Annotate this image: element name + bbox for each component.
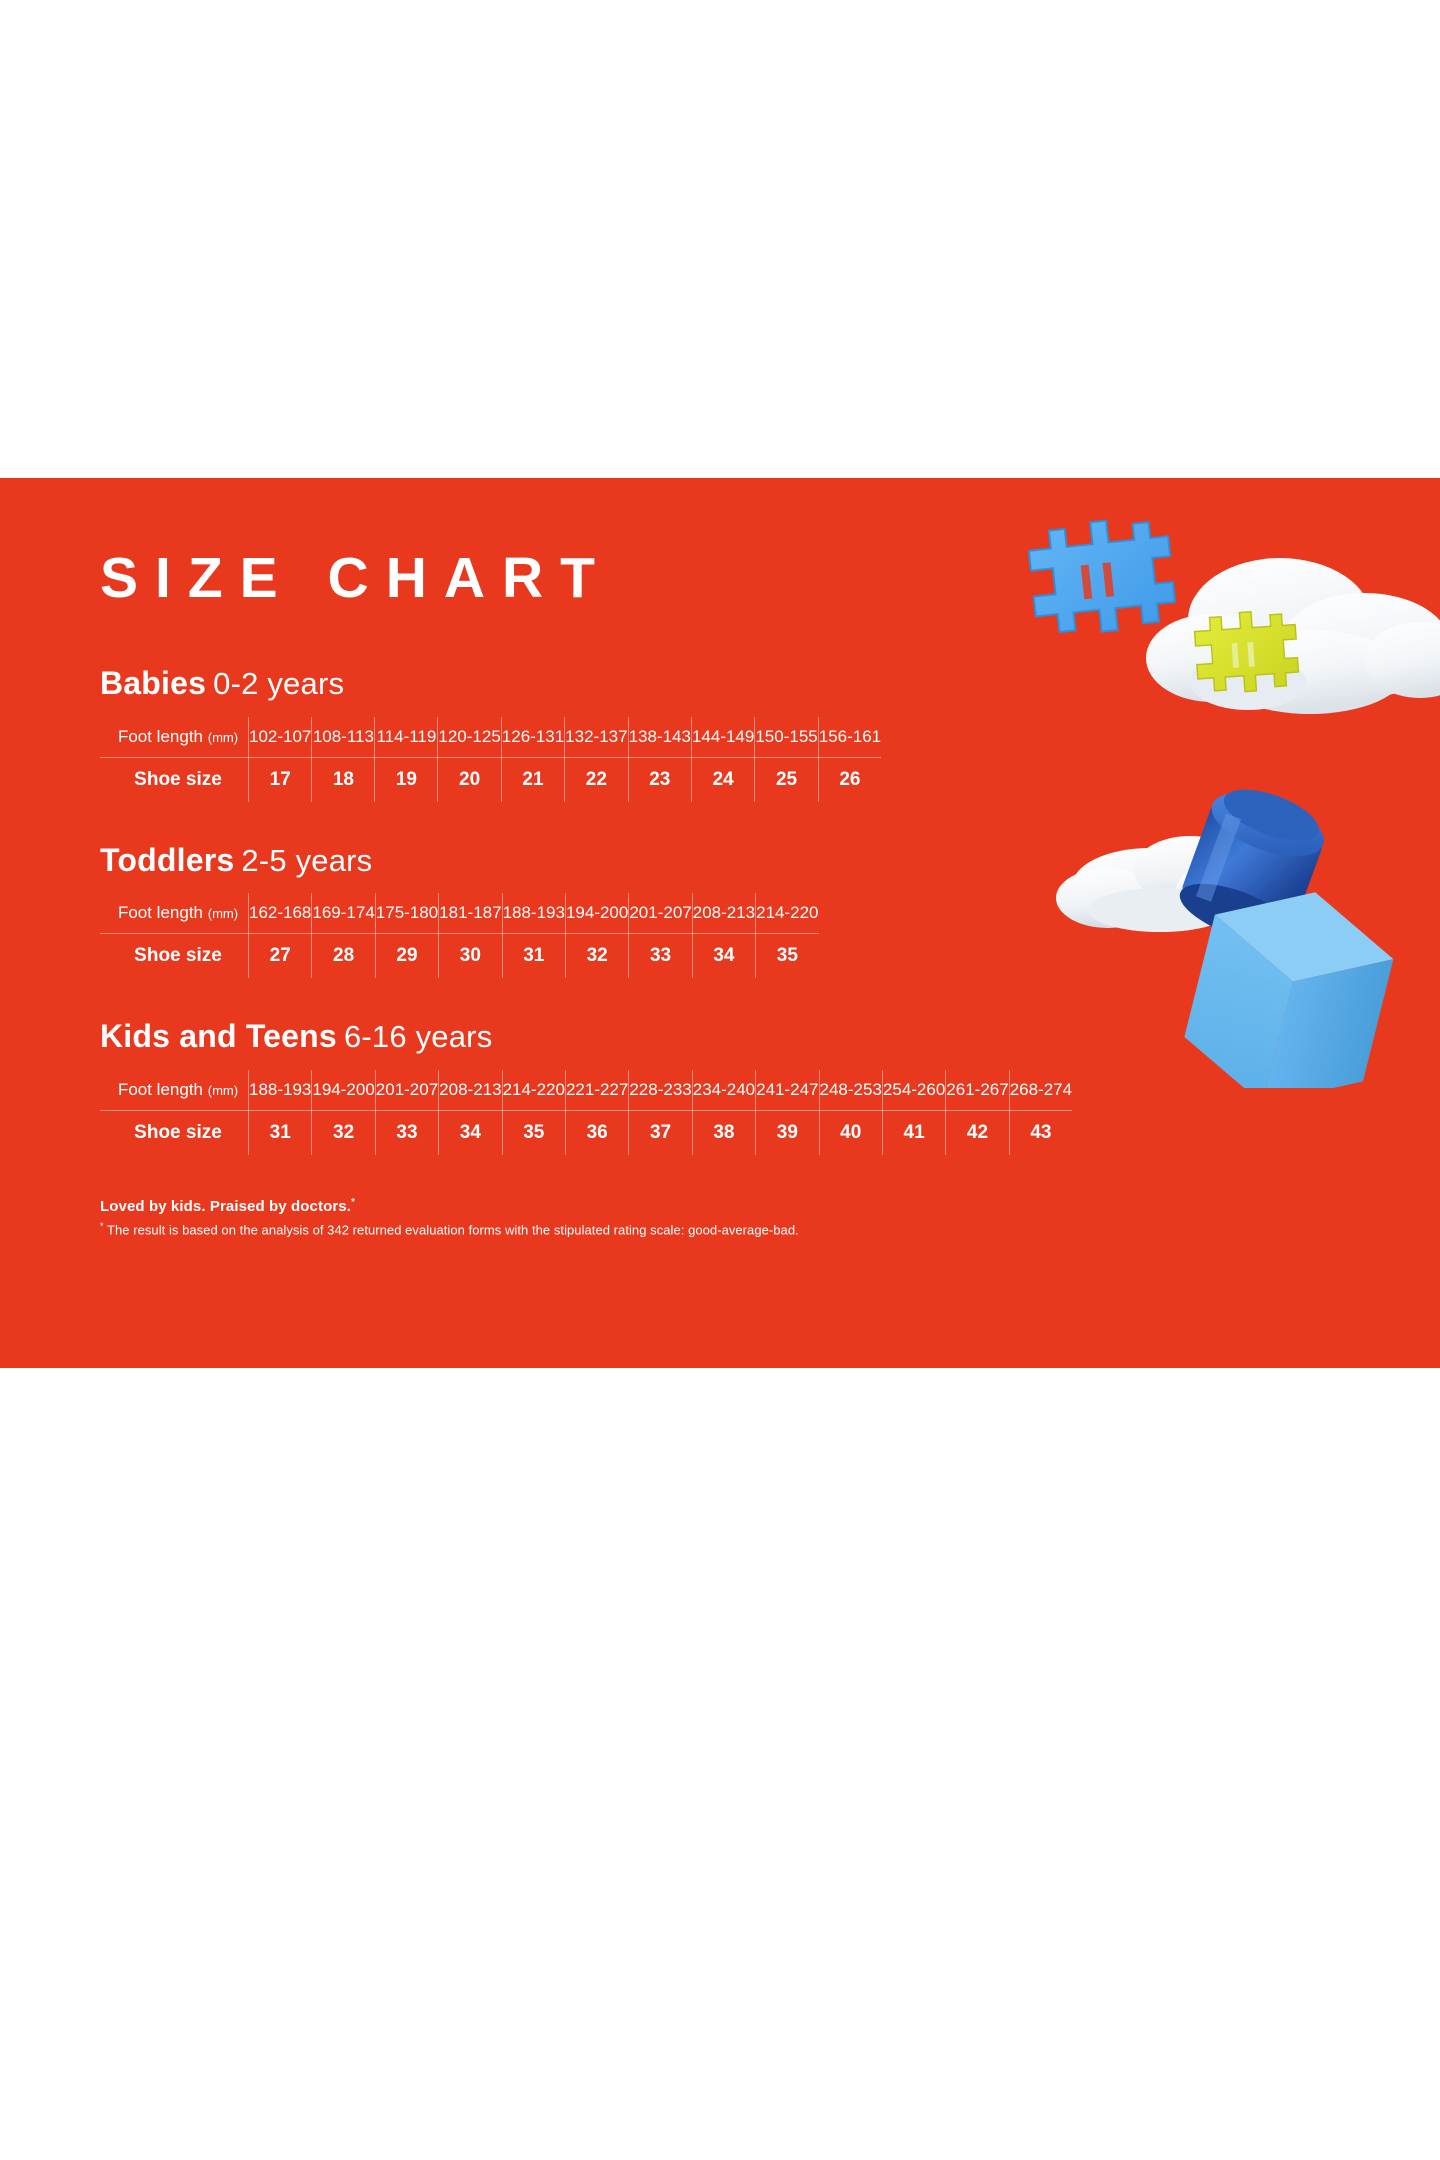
cell-foot-length: 150-155 (755, 717, 818, 758)
cell-foot-length: 201-207 (629, 893, 692, 934)
table-row-foot-length: Foot length (mm) 102-107 108-113 114-119… (100, 717, 881, 758)
cell-shoe-size: 23 (628, 757, 691, 802)
cell-shoe-size: 19 (375, 757, 438, 802)
cell-shoe-size: 31 (249, 1110, 312, 1155)
table-row-shoe-size: Shoe size 17 18 19 20 21 22 23 24 25 26 (100, 757, 881, 802)
section-heading-babies: Babies0-2 years (100, 667, 1440, 701)
cell-foot-length: 194-200 (312, 1070, 375, 1111)
table-row-foot-length: Foot length (mm) 188-193 194-200 201-207… (100, 1070, 1072, 1111)
cell-foot-length: 268-274 (1009, 1070, 1072, 1111)
row-label-foot-length: Foot length (mm) (100, 1070, 249, 1111)
foot-length-unit: (mm) (208, 906, 238, 921)
section-group-label: Toddlers (100, 842, 234, 878)
row-label-shoe-size: Shoe size (100, 1110, 249, 1155)
cell-foot-length: 208-213 (439, 1070, 502, 1111)
cell-foot-length: 234-240 (692, 1070, 755, 1111)
cell-foot-length: 126-131 (501, 717, 564, 758)
cell-foot-length: 162-168 (249, 893, 312, 934)
cell-foot-length: 261-267 (946, 1070, 1009, 1111)
cell-shoe-size: 20 (438, 757, 501, 802)
size-chart-panel: SIZE CHART Babies0-2 years Foot length (… (0, 478, 1440, 1368)
cell-shoe-size: 32 (565, 934, 628, 979)
row-label-shoe-size: Shoe size (100, 934, 249, 979)
cell-foot-length: 214-220 (502, 1070, 565, 1111)
cell-shoe-size: 29 (375, 934, 438, 979)
cell-foot-length: 156-161 (818, 717, 881, 758)
cell-foot-length: 120-125 (438, 717, 501, 758)
cell-shoe-size: 22 (565, 757, 628, 802)
foot-length-text: Foot length (118, 727, 203, 746)
section-heading-kids-and-teens: Kids and Teens6-16 years (100, 1020, 1440, 1054)
cell-shoe-size: 36 (565, 1110, 628, 1155)
cell-shoe-size: 33 (629, 934, 692, 979)
footer-tagline-marker: * (351, 1197, 355, 1208)
section-kids-and-teens: Kids and Teens6-16 years Foot length (mm… (100, 1020, 1440, 1155)
footer-footnote: * The result is based on the analysis of… (100, 1221, 1440, 1237)
cell-shoe-size: 24 (691, 757, 754, 802)
cell-foot-length: 138-143 (628, 717, 691, 758)
cell-shoe-size: 35 (502, 1110, 565, 1155)
foot-length-unit: (mm) (208, 730, 238, 745)
cell-shoe-size: 43 (1009, 1110, 1072, 1155)
cell-shoe-size: 17 (249, 757, 312, 802)
cell-foot-length: 194-200 (565, 893, 628, 934)
cell-shoe-size: 34 (439, 1110, 502, 1155)
cell-shoe-size: 31 (502, 934, 565, 979)
row-label-foot-length: Foot length (mm) (100, 893, 249, 934)
size-chart-page: SIZE CHART Babies0-2 years Foot length (… (0, 0, 1440, 2160)
section-age-label: 0-2 years (213, 666, 344, 701)
foot-length-unit: (mm) (208, 1083, 238, 1098)
cell-foot-length: 132-137 (565, 717, 628, 758)
cell-shoe-size: 30 (439, 934, 502, 979)
cell-foot-length: 208-213 (692, 893, 755, 934)
cell-shoe-size: 39 (756, 1110, 819, 1155)
section-babies: Babies0-2 years Foot length (mm) 102-107… (100, 667, 1440, 802)
cell-foot-length: 201-207 (375, 1070, 438, 1111)
row-label-foot-length: Foot length (mm) (100, 717, 249, 758)
cell-foot-length: 102-107 (249, 717, 312, 758)
cell-shoe-size: 25 (755, 757, 818, 802)
footer: Loved by kids. Praised by doctors.* * Th… (100, 1197, 1440, 1237)
cell-foot-length: 254-260 (882, 1070, 945, 1111)
cell-foot-length: 108-113 (312, 717, 375, 758)
cell-foot-length: 144-149 (691, 717, 754, 758)
table-row-foot-length: Foot length (mm) 162-168 169-174 175-180… (100, 893, 819, 934)
cell-shoe-size: 26 (818, 757, 881, 802)
section-age-label: 2-5 years (241, 843, 372, 878)
cell-foot-length: 241-247 (756, 1070, 819, 1111)
cell-foot-length: 248-253 (819, 1070, 882, 1111)
cell-shoe-size: 37 (629, 1110, 692, 1155)
cell-shoe-size: 21 (501, 757, 564, 802)
cell-foot-length: 221-227 (565, 1070, 628, 1111)
footer-tagline-text: Loved by kids. Praised by doctors. (100, 1198, 351, 1215)
cell-foot-length: 175-180 (375, 893, 438, 934)
size-table-babies: Foot length (mm) 102-107 108-113 114-119… (100, 717, 881, 802)
cell-shoe-size: 34 (692, 934, 755, 979)
cell-shoe-size: 40 (819, 1110, 882, 1155)
cell-shoe-size: 28 (312, 934, 375, 979)
row-label-shoe-size: Shoe size (100, 757, 249, 802)
footer-note-text: The result is based on the analysis of 3… (104, 1222, 799, 1237)
section-toddlers: Toddlers2-5 years Foot length (mm) 162-1… (100, 844, 1440, 979)
cell-foot-length: 214-220 (756, 893, 819, 934)
cell-foot-length: 181-187 (439, 893, 502, 934)
cell-shoe-size: 33 (375, 1110, 438, 1155)
cell-shoe-size: 38 (692, 1110, 755, 1155)
section-heading-toddlers: Toddlers2-5 years (100, 844, 1440, 878)
section-age-label: 6-16 years (344, 1019, 492, 1054)
panel-content: SIZE CHART Babies0-2 years Foot length (… (0, 478, 1440, 1237)
section-group-label: Kids and Teens (100, 1018, 337, 1054)
cell-foot-length: 169-174 (312, 893, 375, 934)
cell-shoe-size: 41 (882, 1110, 945, 1155)
foot-length-text: Foot length (118, 1080, 203, 1099)
size-table-toddlers: Foot length (mm) 162-168 169-174 175-180… (100, 893, 819, 978)
cell-shoe-size: 42 (946, 1110, 1009, 1155)
size-table-kids-and-teens: Foot length (mm) 188-193 194-200 201-207… (100, 1070, 1072, 1155)
foot-length-text: Foot length (118, 903, 203, 922)
cell-shoe-size: 27 (249, 934, 312, 979)
table-row-shoe-size: Shoe size 31 32 33 34 35 36 37 38 39 40 … (100, 1110, 1072, 1155)
cell-foot-length: 188-193 (249, 1070, 312, 1111)
cell-foot-length: 188-193 (502, 893, 565, 934)
cell-shoe-size: 18 (312, 757, 375, 802)
footer-tagline: Loved by kids. Praised by doctors.* (100, 1197, 1440, 1215)
cell-shoe-size: 32 (312, 1110, 375, 1155)
page-title: SIZE CHART (100, 550, 1440, 607)
cell-shoe-size: 35 (756, 934, 819, 979)
cell-foot-length: 114-119 (375, 717, 438, 758)
section-group-label: Babies (100, 665, 206, 701)
table-row-shoe-size: Shoe size 27 28 29 30 31 32 33 34 35 (100, 934, 819, 979)
cell-foot-length: 228-233 (629, 1070, 692, 1111)
